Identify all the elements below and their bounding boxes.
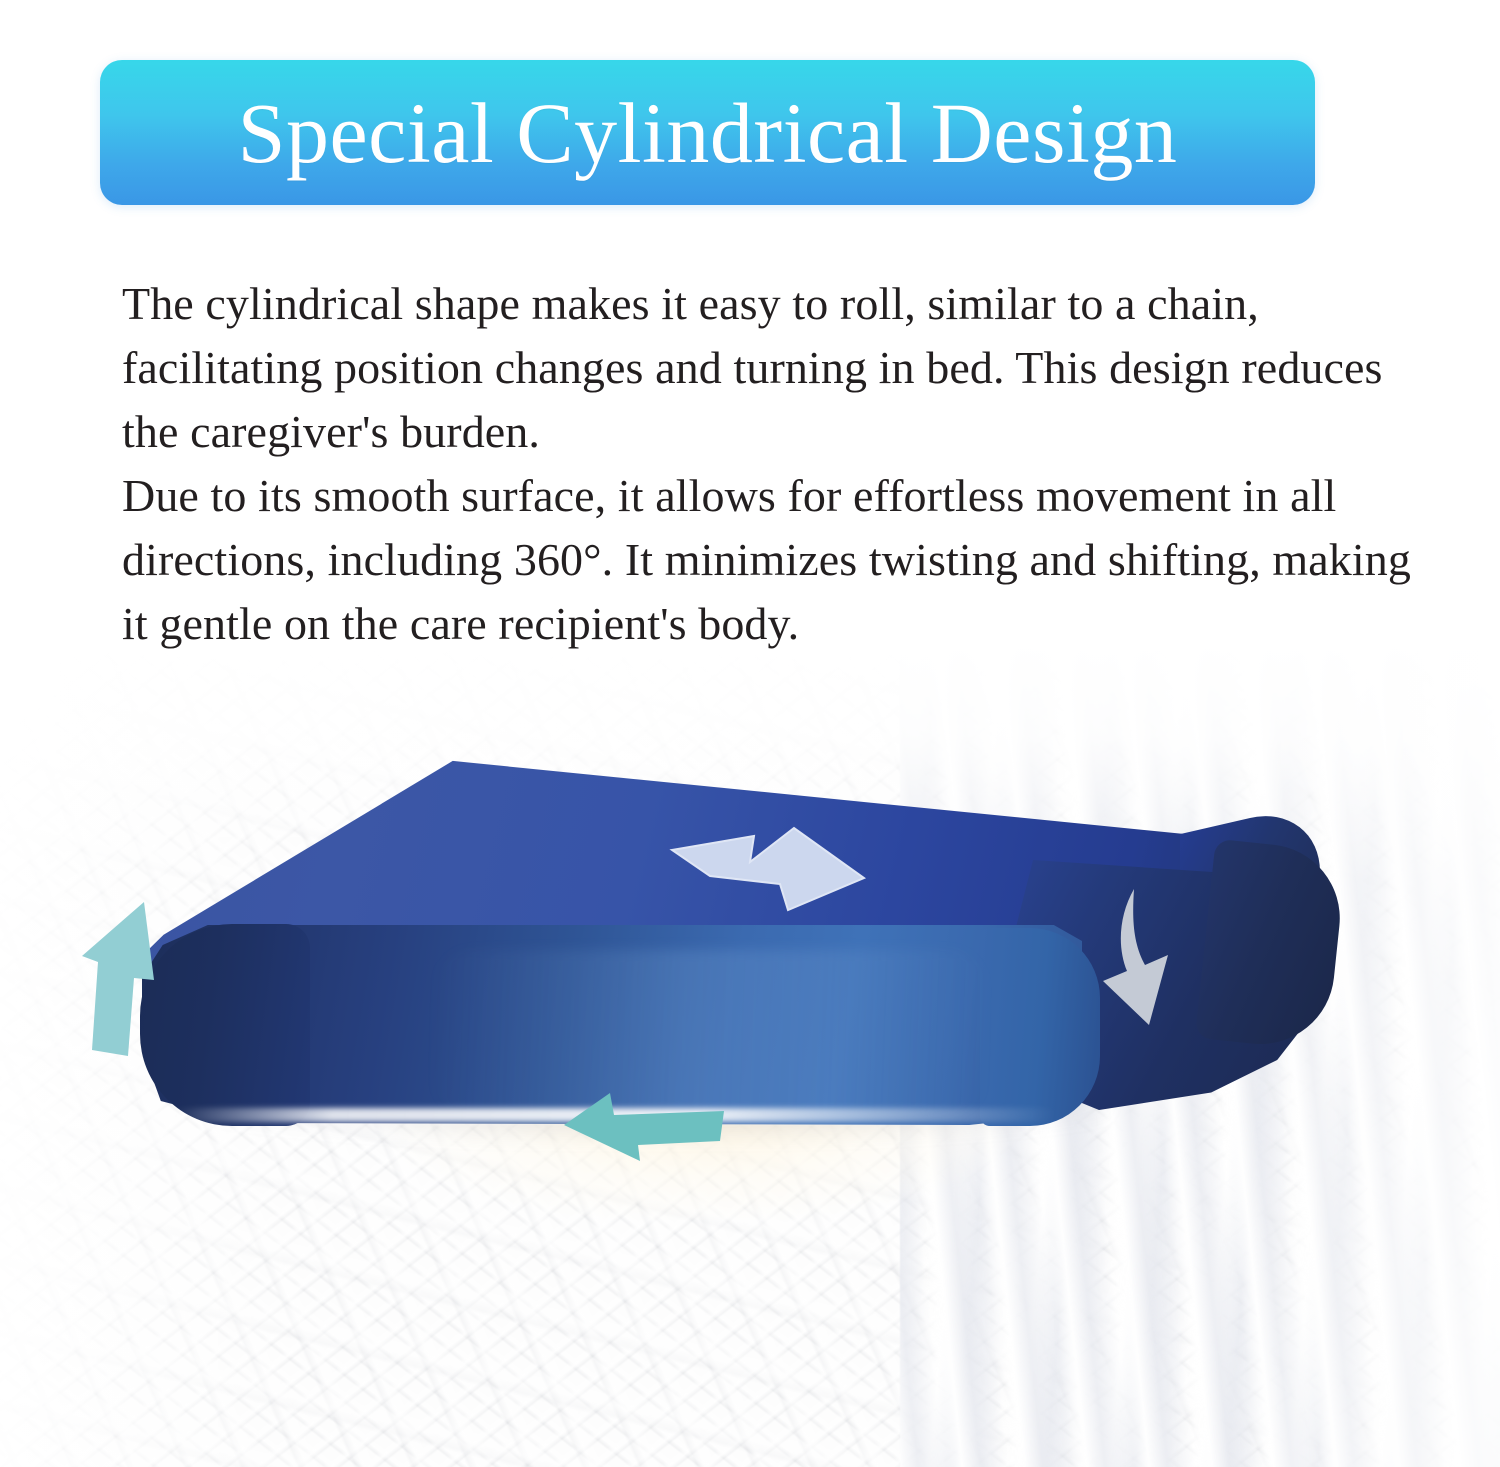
page-title: Special Cylindrical Design	[238, 90, 1178, 176]
product-feature-panel: Special Cylindrical Design The cylindric…	[0, 0, 1500, 1467]
arrow-left-icon	[560, 1085, 730, 1170]
title-banner: Special Cylindrical Design	[100, 60, 1315, 205]
arrow-down-icon	[1093, 885, 1223, 1030]
arrow-up-icon	[70, 900, 180, 1060]
cushion-front-right-end	[980, 928, 1100, 1126]
description-paragraph-2: Due to its smooth surface, it allows for…	[122, 464, 1422, 656]
arrow-right-icon	[668, 818, 868, 928]
description-block: The cylindrical shape makes it easy to r…	[122, 272, 1422, 656]
description-paragraph-1: The cylindrical shape makes it easy to r…	[122, 272, 1422, 464]
